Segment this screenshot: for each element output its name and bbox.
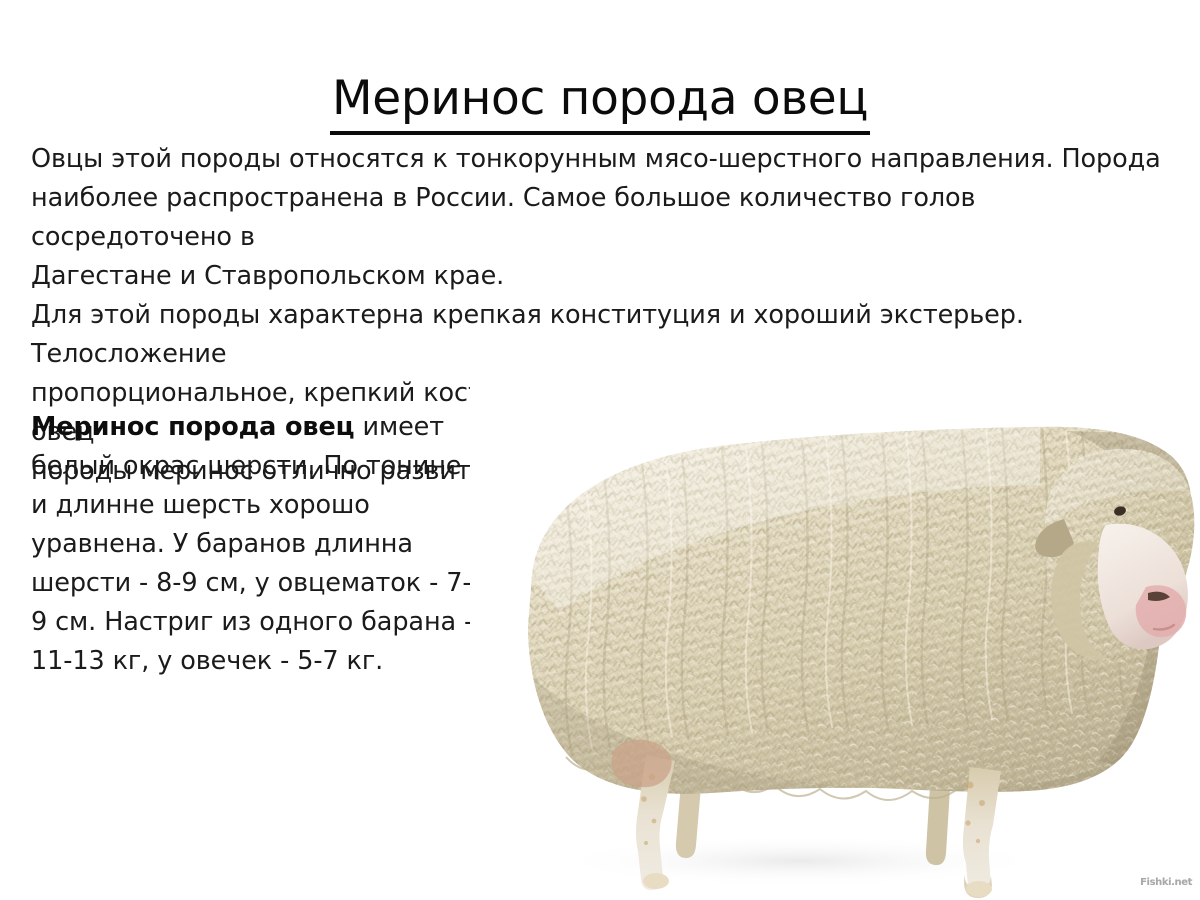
sheep-hoof bbox=[966, 881, 992, 897]
detail-lead-phrase: Меринос порода овец bbox=[31, 412, 354, 442]
intro-line-2: наиболее распространена в России. Самое … bbox=[31, 179, 1171, 257]
sheep-illustration bbox=[470, 375, 1200, 900]
merino-sheep-photo bbox=[470, 375, 1200, 900]
intro-line-4: Для этой породы характерна крепкая конст… bbox=[31, 296, 1171, 374]
intro-line-3: Дагестане и Ставропольском крае. bbox=[31, 257, 1171, 296]
detail-paragraph: Меринос порода овец имеет белый окрас ше… bbox=[31, 408, 479, 681]
detail-body-text: имеет белый окрас шерсти. По тонине и дл… bbox=[31, 412, 473, 676]
sheep-hoof bbox=[643, 873, 669, 889]
slide-canvas: Меринос порода овец Овцы этой породы отн… bbox=[0, 0, 1200, 900]
page-title: Меринос порода овец bbox=[330, 71, 870, 135]
detail-text: Меринос порода овец имеет белый окрас ше… bbox=[31, 408, 479, 681]
intro-line-1: Овцы этой породы относятся к тонкорунным… bbox=[31, 140, 1171, 179]
watermark-fishki: Fishki.net bbox=[1140, 877, 1192, 888]
